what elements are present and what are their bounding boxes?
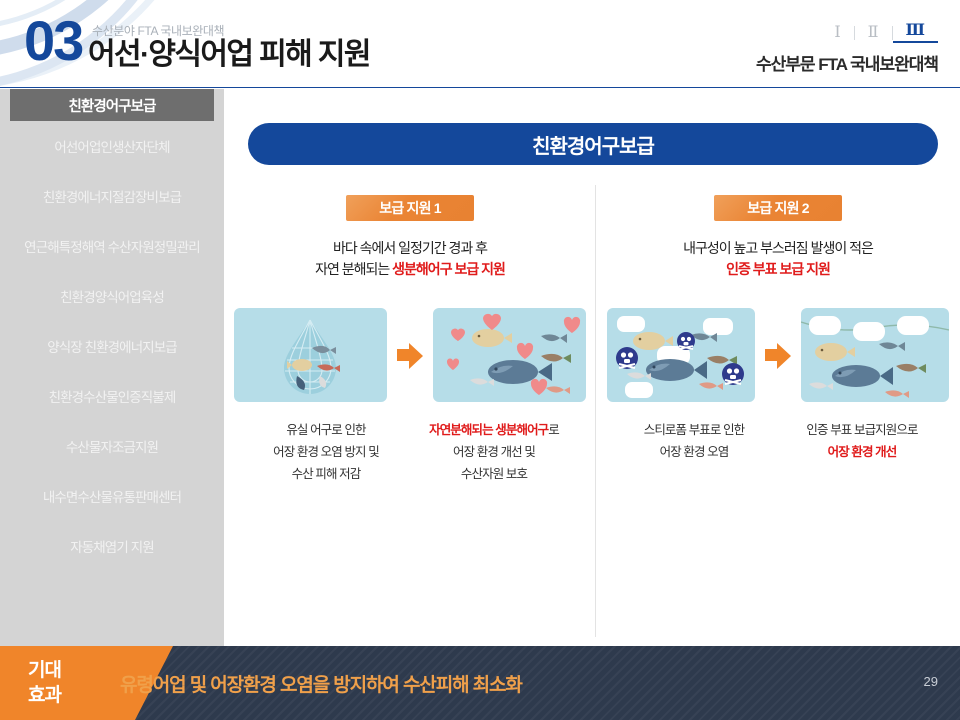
page-title: 어선·양식어업 피해 지원 (88, 38, 370, 72)
slide: 03 수산분야 FTA 국내보완대책 어선·양식어업 피해 지원 Ⅰ Ⅱ Ⅲ 수… (0, 0, 960, 720)
caption-pair-1: 유실 어구로 인한 어장 환경 오염 방지 및 수산 피해 저감 자연분해되는 … (234, 419, 586, 485)
content-banner-title: 친환경어구보급 (248, 123, 938, 165)
tag-line-1: 기대 (28, 660, 61, 681)
caption-line: 로 (548, 423, 559, 437)
sidebar-item-farm-energy[interactable]: 양식장 친환경에너지보급 (0, 321, 224, 371)
main-content: 친환경어구보급 보급 지원 1 바다 속에서 일정기간 경과 후 자연 분해되는… (224, 89, 960, 646)
styrofoam-skull-svg (607, 308, 755, 402)
caption-line: 수산 피해 저감 (292, 467, 361, 481)
sidebar-item-inland-center[interactable]: 내수면수산물유통판매센터 (0, 471, 224, 521)
caption-after-2: 인증 부표 보급지원으로 어장 환경 개선 (783, 419, 941, 463)
header-subtitle: 수산부문 FTA 국내보완대책 (756, 50, 938, 75)
expected-effect-tag (0, 646, 135, 720)
caption-line: 유실 어구로 인한 (286, 423, 365, 437)
section-number: 03 (24, 12, 82, 70)
certified-buoy-svg (801, 308, 949, 402)
sidebar-item-auto-salting[interactable]: 자동채염기 지원 (0, 521, 224, 571)
sidebar-item-energy-saving[interactable]: 친환경에너지절감장비보급 (0, 171, 224, 221)
skull-icon (616, 347, 638, 369)
tab-section-3[interactable]: Ⅲ (893, 22, 938, 43)
lead-line-1: 내구성이 높고 부스러짐 발생이 적은 (683, 240, 873, 256)
sidebar-item-friendly-gear[interactable]: 친환경어구보급 (10, 89, 214, 121)
illustration-certified-buoys (801, 308, 949, 402)
lead-text-1: 바다 속에서 일정기간 경과 후 자연 분해되는 생분해어구 보급 지원 (234, 238, 586, 280)
skull-icon (722, 363, 744, 385)
page-number: 29 (924, 674, 938, 689)
badge-support-2: 보급 지원 2 (714, 195, 842, 221)
sidebar-item-self-fund[interactable]: 수산물자조금지원 (0, 421, 224, 471)
header-kicker: 수산분야 FTA 국내보완대책 (92, 22, 224, 39)
lead-line-1: 바다 속에서 일정기간 경과 후 (333, 240, 487, 256)
caption-before-2: 스티로폼 부표로 인한 어장 환경 오염 (615, 419, 773, 463)
caption-line: 스티로폼 부표로 인한 (644, 423, 745, 437)
tag-line-2: 효과 (28, 685, 61, 706)
sidebar-item-aquaculture[interactable]: 친환경양식어업육성 (0, 271, 224, 321)
caption-before-1: 유실 어구로 인한 어장 환경 오염 방지 및 수산 피해 저감 (247, 419, 405, 485)
lead-line-2-plain: 자연 분해되는 (315, 261, 392, 277)
lead-line-2-accent: 생분해어구 보급 지원 (392, 261, 505, 277)
caption-line: 어장 환경 오염 방지 및 (273, 445, 379, 459)
expected-effect-label: 기대 효과 (28, 658, 61, 708)
sidebar-item-resource-mgmt[interactable]: 연근해특정해역 수산자원정밀관리 (0, 221, 224, 271)
slide-footer: 기대 효과 유령어업 및 어장환경 오염을 방지하여 수산피해 최소화 29 (0, 646, 960, 720)
section-tabs: Ⅰ Ⅱ Ⅲ (821, 22, 938, 43)
caption-accent: 어장 환경 개선 (828, 445, 897, 459)
lead-line-2-accent: 인증 부표 보급 지원 (726, 261, 830, 277)
caption-pair-2: 스티로폼 부표로 인한 어장 환경 오염 인증 부표 보급지원으로 어장 환경 … (604, 419, 952, 463)
column-divider (595, 185, 596, 637)
badge-support-1: 보급 지원 1 (346, 195, 474, 221)
orange-arrow-icon (765, 342, 791, 368)
skull-icon (677, 332, 695, 350)
sidebar-item-producer-org[interactable]: 어선어업인생산자단체 (0, 121, 224, 171)
illustration-fish-trapped-in-net (234, 308, 387, 402)
slide-header: 03 수산분야 FTA 국내보완대책 어선·양식어업 피해 지원 Ⅰ Ⅱ Ⅲ 수… (0, 0, 960, 88)
illustration-styrofoam-pollution (607, 308, 755, 402)
lead-text-2: 내구성이 높고 부스러짐 발생이 적은 인증 부표 보급 지원 (604, 238, 952, 280)
fish-in-net-svg (234, 308, 387, 402)
orange-arrow-icon (397, 342, 423, 368)
caption-line: 인증 부표 보급지원으로 (806, 423, 917, 437)
sidebar-item-certification[interactable]: 친환경수산물인증직불제 (0, 371, 224, 421)
column-support-2: 보급 지원 2 내구성이 높고 부스러짐 발생이 적은 인증 부표 보급 지원 (604, 195, 952, 463)
footer-message: 유령어업 및 어장환경 오염을 방지하여 수산피해 최소화 (120, 670, 522, 697)
column-support-1: 보급 지원 1 바다 속에서 일정기간 경과 후 자연 분해되는 생분해어구 보… (234, 195, 586, 485)
header-divider (0, 87, 960, 88)
illustration-free-fish-with-hearts (433, 308, 586, 402)
caption-after-1: 자연분해되는 생분해어구로 어장 환경 개선 및 수산자원 보호 (415, 419, 573, 485)
caption-line: 수산자원 보호 (461, 467, 527, 481)
tab-section-2[interactable]: Ⅱ (855, 24, 892, 42)
caption-line: 어장 환경 개선 및 (453, 445, 535, 459)
free-fish-svg (433, 308, 586, 402)
caption-line: 어장 환경 오염 (660, 445, 729, 459)
tab-section-1[interactable]: Ⅰ (821, 24, 853, 42)
caption-accent: 자연분해되는 생분해어구 (429, 423, 548, 437)
sidebar: 친환경어구보급 어선어업인생산자단체 친환경에너지절감장비보급 연근해특정해역 … (0, 89, 224, 646)
figure-pair-2 (604, 307, 952, 403)
figure-pair-1 (234, 307, 586, 403)
